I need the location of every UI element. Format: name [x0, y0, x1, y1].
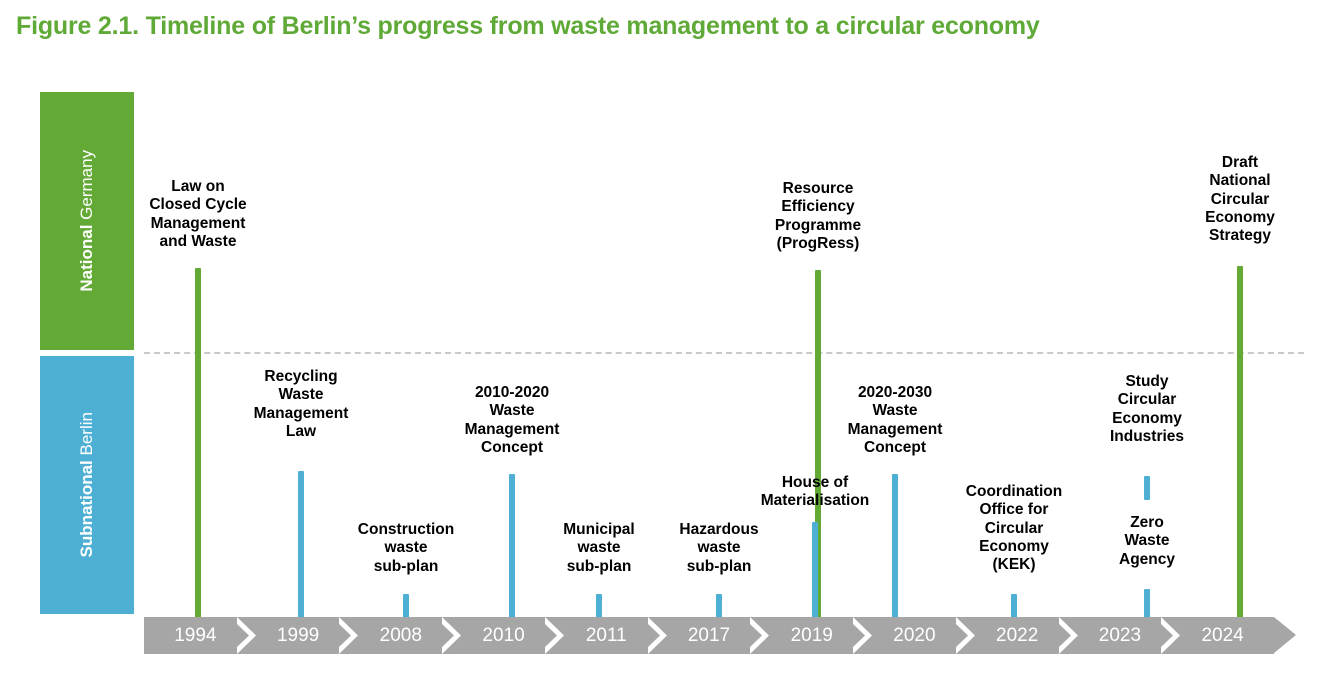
- event-label-progress: ResourceEfficiencyProgramme(ProgRess): [738, 180, 898, 253]
- event-label-construction-subplan: Constructionwastesub-plan: [331, 521, 481, 576]
- event-stem-draft-strategy: [1237, 266, 1243, 618]
- axis-year-2017[interactable]: 2017: [658, 617, 761, 654]
- row-header-national-level: National: [77, 225, 96, 292]
- row-header-subnational-place: Berlin: [77, 412, 96, 455]
- axis-year-1994[interactable]: 1994: [144, 617, 247, 654]
- row-header-national-label: National Germany: [77, 150, 97, 292]
- event-label-draft-strategy: DraftNationalCircularEconomyStrategy: [1180, 154, 1300, 245]
- event-stem-house-materialisation: [812, 522, 818, 618]
- event-label-recycling-law: RecyclingWasteManagementLaw: [221, 368, 381, 441]
- event-label-wmc-2010: 2010-2020WasteManagementConcept: [432, 384, 592, 457]
- page-title: Figure 2.1. Timeline of Berlin’s progres…: [16, 12, 1040, 41]
- event-stem-law-closed-cycle: [195, 268, 201, 618]
- axis-year-2011[interactable]: 2011: [555, 617, 658, 654]
- event-label-law-closed-cycle: Law onClosed CycleManagementand Waste: [118, 178, 278, 251]
- event-label-kek: CoordinationOffice forCircularEconomy(KE…: [939, 483, 1089, 574]
- timeline-figure: Figure 2.1. Timeline of Berlin’s progres…: [0, 0, 1332, 676]
- axis-year-2008[interactable]: 2008: [349, 617, 452, 654]
- event-label-wmc-2020: 2020-2030WasteManagementConcept: [815, 384, 975, 457]
- event-stem-kek: [1011, 594, 1017, 618]
- axis-year-2022[interactable]: 2022: [966, 617, 1069, 654]
- event-label-municipal-subplan: Municipalwastesub-plan: [529, 521, 669, 576]
- event-stem-zero-waste: [1144, 589, 1150, 618]
- axis-year-2020[interactable]: 2020: [863, 617, 966, 654]
- axis-arrow-right-icon: [1274, 617, 1296, 653]
- event-stem-municipal-subplan: [596, 594, 602, 618]
- event-stem-study-industries: [1144, 476, 1150, 500]
- row-header-subnational: Subnational Berlin: [40, 356, 134, 614]
- row-divider: [144, 352, 1304, 354]
- event-stem-construction-subplan: [403, 594, 409, 618]
- event-stem-hazardous-subplan: [716, 594, 722, 618]
- event-label-house-materialisation: House ofMaterialisation: [728, 474, 903, 511]
- row-header-national-place: Germany: [77, 150, 96, 220]
- event-stem-wmc-2020: [892, 474, 898, 618]
- event-stem-wmc-2010: [509, 474, 515, 618]
- axis-year-2019[interactable]: 2019: [760, 617, 863, 654]
- row-header-subnational-level: Subnational: [77, 460, 96, 557]
- event-label-study-industries: StudyCircularEconomyIndustries: [1072, 373, 1222, 446]
- axis-year-2010[interactable]: 2010: [452, 617, 555, 654]
- axis-year-2024[interactable]: 2024: [1171, 617, 1274, 654]
- axis-year-2023[interactable]: 2023: [1069, 617, 1172, 654]
- row-header-subnational-label: Subnational Berlin: [77, 412, 97, 557]
- event-label-hazardous-subplan: Hazardouswastesub-plan: [649, 521, 789, 576]
- timeline-axis: 1994199920082010201120172019202020222023…: [144, 617, 1296, 654]
- axis-year-1999[interactable]: 1999: [247, 617, 350, 654]
- event-stem-recycling-law: [298, 471, 304, 618]
- event-label-zero-waste: ZeroWasteAgency: [1082, 514, 1212, 569]
